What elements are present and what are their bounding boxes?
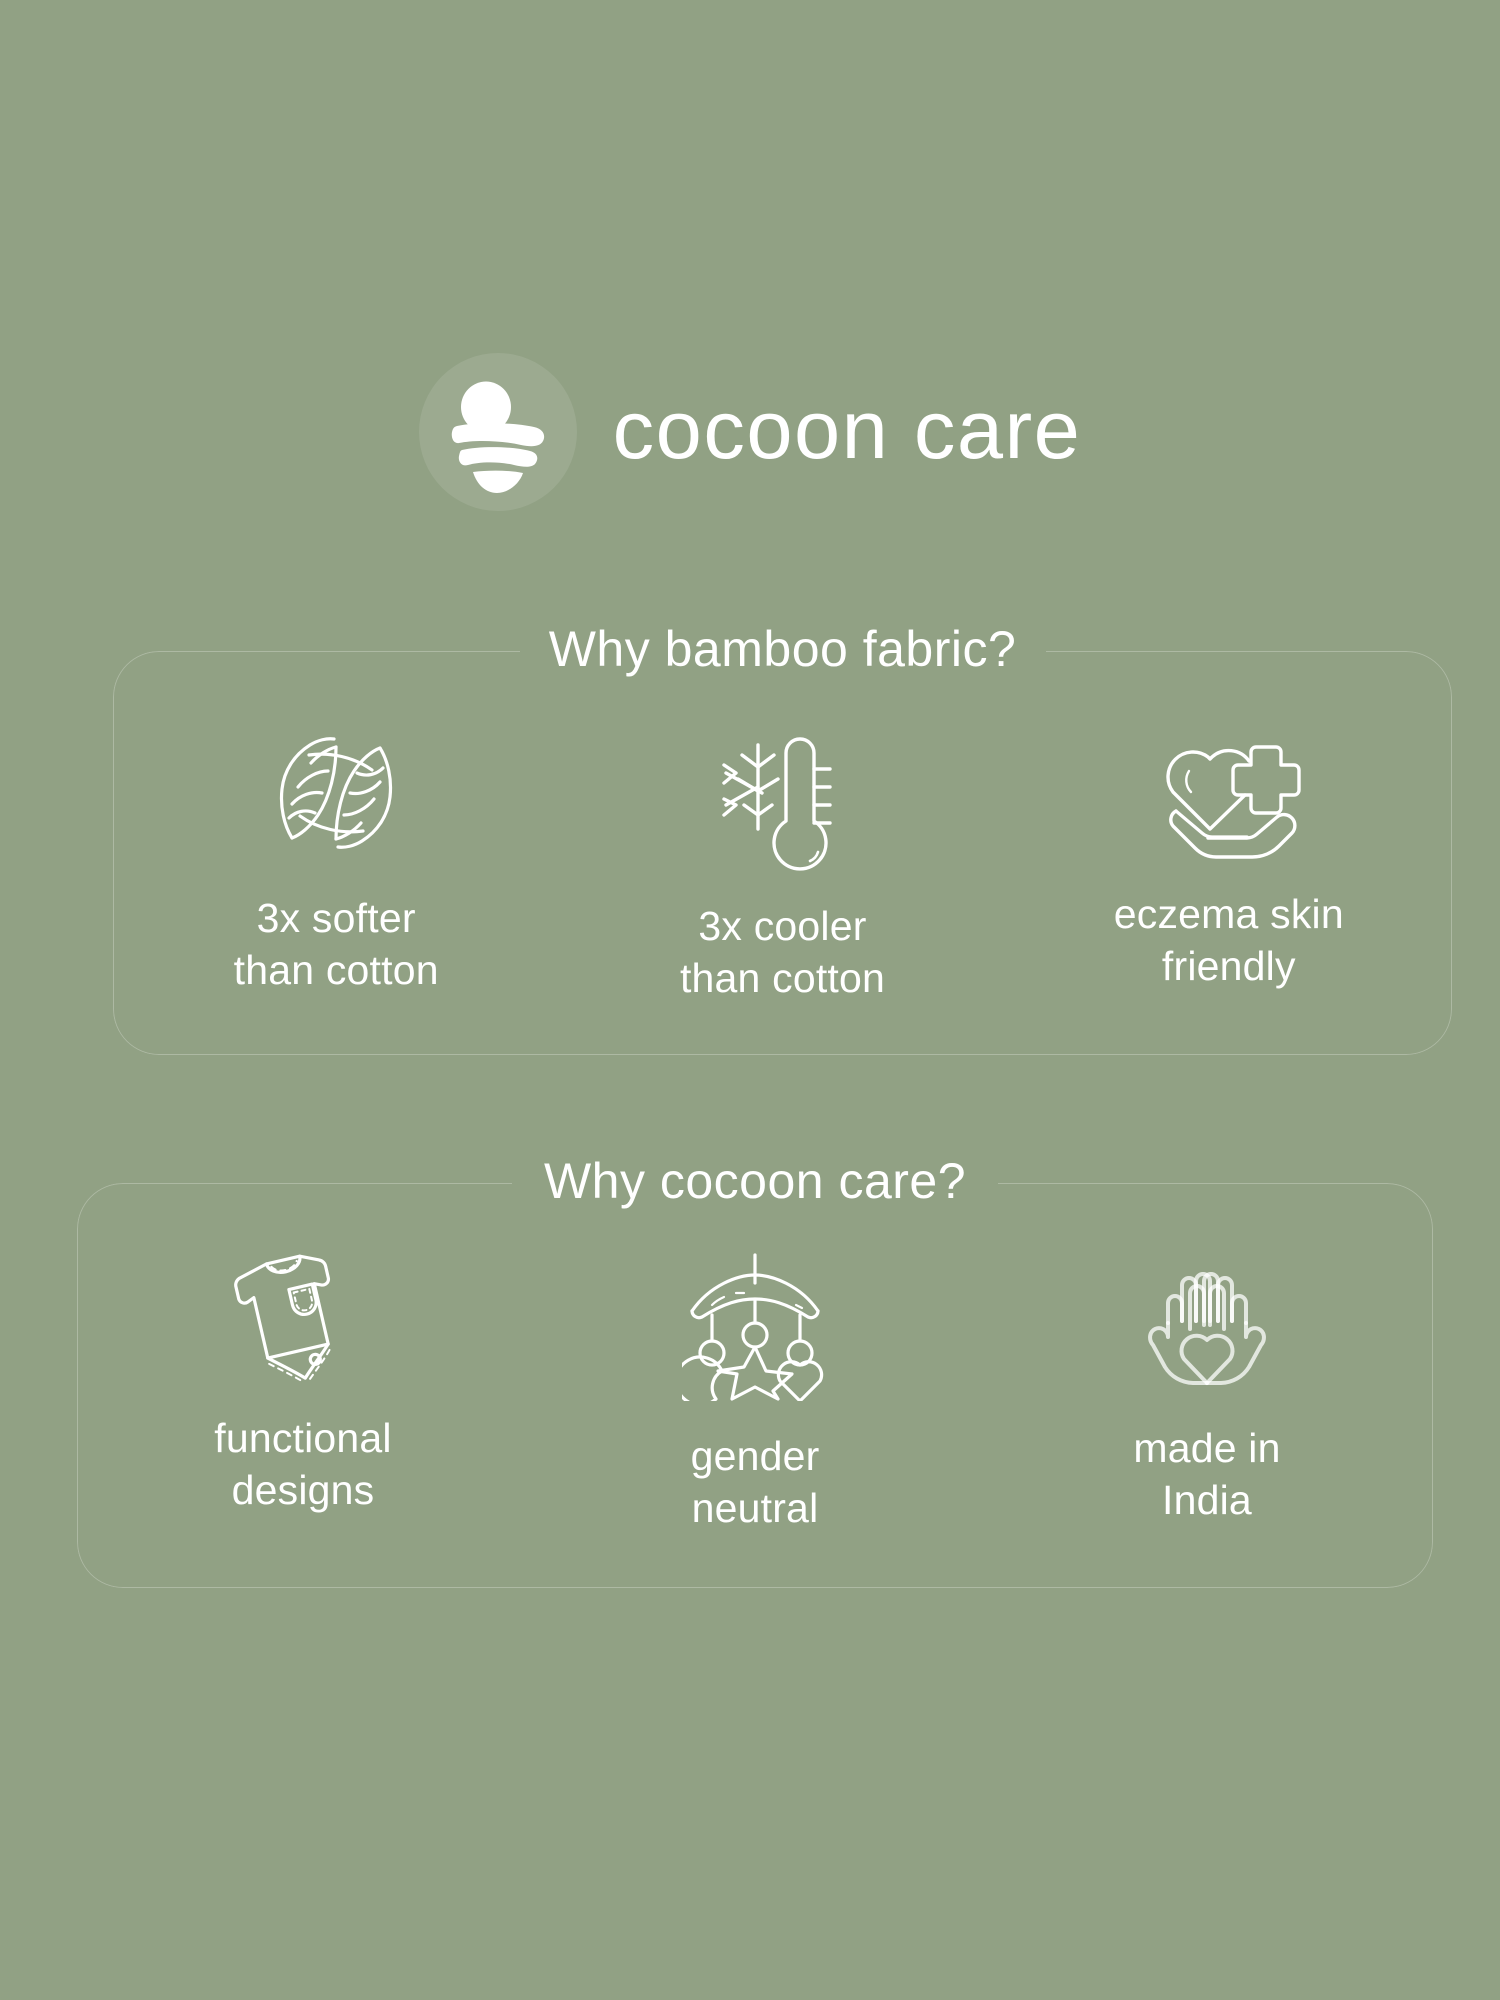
swaddled-baby-logo-icon [419, 353, 577, 511]
feature-label: 3x softer than cotton [234, 893, 439, 996]
hand-heart-medical-cross-icon [1153, 713, 1305, 863]
feature-3x-softer: 3x softer than cotton [113, 651, 559, 1055]
feature-row: 3x softer than cotton [113, 651, 1452, 1055]
two-feathers-icon [262, 717, 410, 867]
brand-header: cocoon care [0, 352, 1500, 512]
feature-3x-cooler: 3x cooler than cotton [559, 651, 1005, 1055]
hands-holding-heart-icon [1134, 1245, 1280, 1395]
feature-label: made in India [1133, 1423, 1280, 1526]
promo-page: cocoon care Why bamboo fabric? [0, 0, 1500, 2000]
feature-label: functional designs [214, 1413, 392, 1516]
feature-gender-neutral: gender neutral [529, 1183, 981, 1588]
baby-mobile-icon [682, 1251, 828, 1401]
feature-made-in-india: made in India [981, 1183, 1433, 1588]
feature-functional-designs: functional designs [77, 1183, 529, 1588]
thermometer-snowflake-icon [714, 725, 850, 875]
baby-onesie-icon [233, 1241, 373, 1391]
brand-name: cocoon care [613, 388, 1082, 477]
feature-label: 3x cooler than cotton [680, 901, 885, 1004]
section-why-bamboo-fabric: Why bamboo fabric? [113, 651, 1452, 1055]
section-why-cocoon-care: Why cocoon care? [77, 1183, 1433, 1588]
feature-row: functional designs [77, 1183, 1433, 1588]
feature-label: gender neutral [691, 1431, 820, 1534]
feature-label: eczema skin friendly [1114, 889, 1344, 992]
feature-eczema-skin-friendly: eczema skin friendly [1006, 651, 1452, 1055]
